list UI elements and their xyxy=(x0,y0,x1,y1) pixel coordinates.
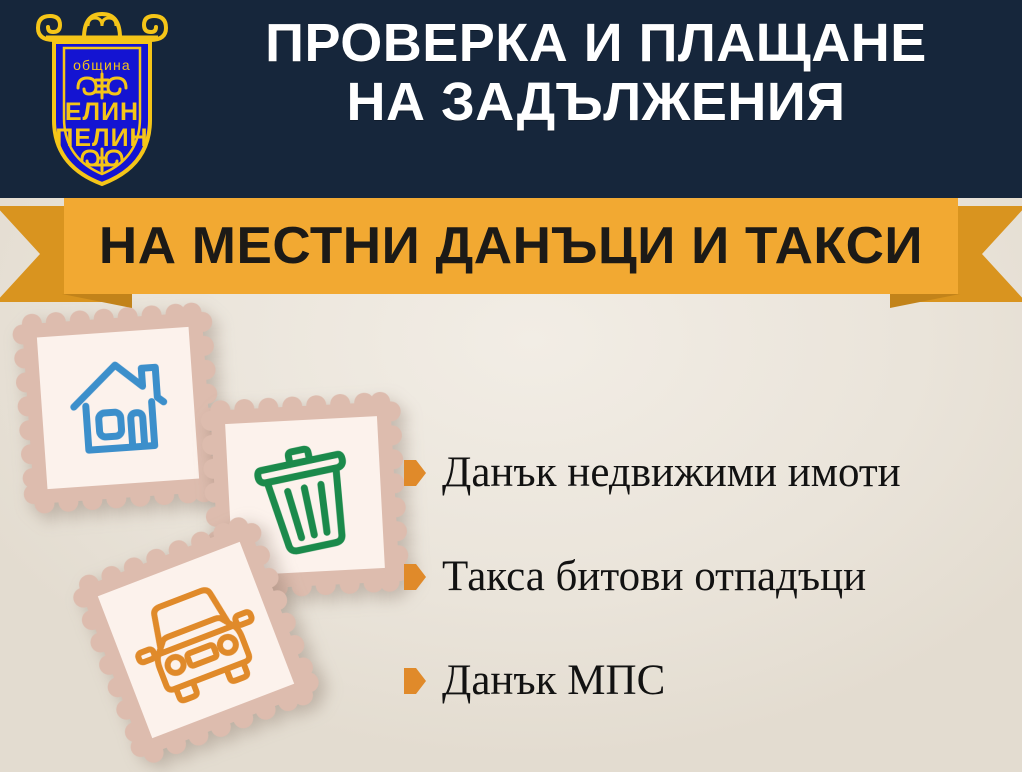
stamp-house xyxy=(11,301,224,514)
page-title-line-1: ПРОВЕРКА И ПЛАЩАНЕ xyxy=(190,14,1002,73)
ribbon-body: НА МЕСТНИ ДАНЪЦИ И ТАКСИ xyxy=(64,198,958,294)
stamp-collage xyxy=(0,300,430,772)
ribbon-label: НА МЕСТНИ ДАНЪЦИ И ТАКСИ xyxy=(99,216,923,276)
arrow-bullet-icon xyxy=(404,564,426,590)
list-item[interactable]: Такса битови отпадъци xyxy=(404,524,1014,628)
poster-canvas: ПРОВЕРКА И ПЛАЩАНЕ НА ЗАДЪЛЖЕНИЯ община xyxy=(0,0,1022,772)
page-title-line-2: НА ЗАДЪЛЖЕНИЯ xyxy=(190,73,1002,132)
crest-word-top: община xyxy=(73,57,131,73)
page-title: ПРОВЕРКА И ПЛАЩАНЕ НА ЗАДЪЛЖЕНИЯ xyxy=(190,14,1002,133)
tax-type-list: Данък недвижими имоти Такса битови отпад… xyxy=(404,420,1014,732)
list-item[interactable]: Данък МПС xyxy=(404,628,1014,732)
arrow-bullet-icon xyxy=(404,460,426,486)
list-item[interactable]: Данък недвижими имоти xyxy=(404,420,1014,524)
arrow-bullet-icon xyxy=(404,668,426,694)
list-item-label: Данък МПС xyxy=(442,659,665,702)
list-item-label: Данък недвижими имоти xyxy=(442,451,901,494)
ribbon-banner: НА МЕСТНИ ДАНЪЦИ И ТАКСИ xyxy=(0,198,1022,310)
coat-of-arms-icon: община ЕЛИН ПЕЛИН xyxy=(26,8,178,190)
crest-word-line-1: ЕЛИН xyxy=(65,98,139,126)
list-item-label: Такса битови отпадъци xyxy=(442,555,866,598)
